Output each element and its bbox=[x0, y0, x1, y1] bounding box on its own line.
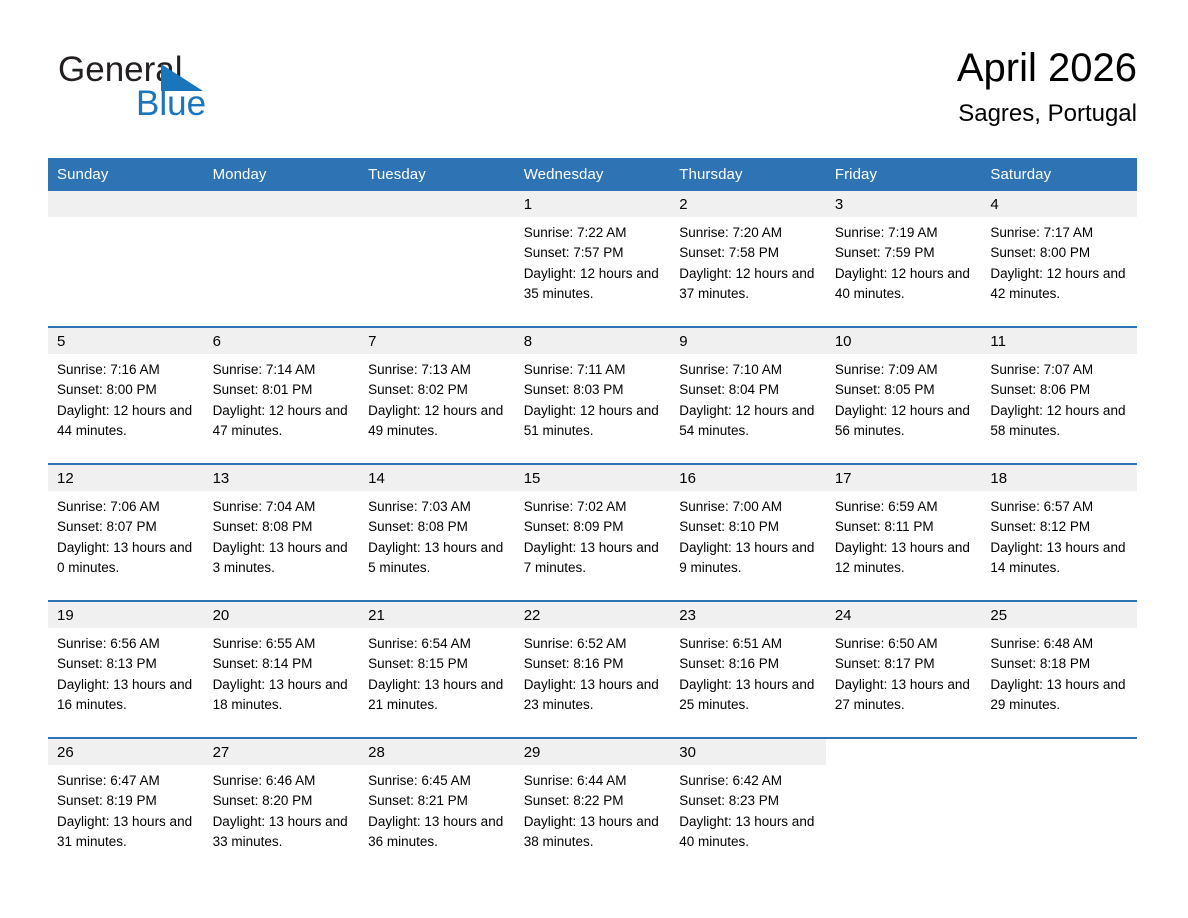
calendar-day-cell[interactable]: 15Sunrise: 7:02 AMSunset: 8:09 PMDayligh… bbox=[515, 464, 671, 601]
sunrise-text: Sunrise: 6:54 AM bbox=[368, 634, 507, 654]
day-details: Sunrise: 7:13 AMSunset: 8:02 PMDaylight:… bbox=[359, 354, 515, 441]
day-details: Sunrise: 7:16 AMSunset: 8:00 PMDaylight:… bbox=[48, 354, 204, 441]
day-number: 25 bbox=[981, 602, 1137, 628]
day-details: Sunrise: 7:07 AMSunset: 8:06 PMDaylight:… bbox=[981, 354, 1137, 441]
day-details: Sunrise: 7:17 AMSunset: 8:00 PMDaylight:… bbox=[981, 217, 1137, 304]
daylight-text: Daylight: 12 hours and 40 minutes. bbox=[835, 264, 974, 305]
day-cell-inner: 15Sunrise: 7:02 AMSunset: 8:09 PMDayligh… bbox=[515, 465, 671, 600]
sunset-text: Sunset: 7:58 PM bbox=[679, 243, 818, 263]
day-details: Sunrise: 7:04 AMSunset: 8:08 PMDaylight:… bbox=[204, 491, 360, 578]
sunrise-text: Sunrise: 6:44 AM bbox=[524, 771, 663, 791]
sunrise-text: Sunrise: 6:47 AM bbox=[57, 771, 196, 791]
calendar-day-cell[interactable]: 17Sunrise: 6:59 AMSunset: 8:11 PMDayligh… bbox=[826, 464, 982, 601]
day-details: Sunrise: 7:11 AMSunset: 8:03 PMDaylight:… bbox=[515, 354, 671, 441]
day-cell-inner: 17Sunrise: 6:59 AMSunset: 8:11 PMDayligh… bbox=[826, 465, 982, 600]
day-number: 8 bbox=[515, 328, 671, 354]
day-number: 22 bbox=[515, 602, 671, 628]
calendar-day-cell[interactable]: 1Sunrise: 7:22 AMSunset: 7:57 PMDaylight… bbox=[515, 191, 671, 327]
sunset-text: Sunset: 8:16 PM bbox=[524, 654, 663, 674]
day-number: 15 bbox=[515, 465, 671, 491]
sunrise-text: Sunrise: 7:19 AM bbox=[835, 223, 974, 243]
day-details: Sunrise: 6:54 AMSunset: 8:15 PMDaylight:… bbox=[359, 628, 515, 715]
daylight-text: Daylight: 13 hours and 23 minutes. bbox=[524, 675, 663, 716]
page-subtitle: Sagres, Portugal bbox=[957, 98, 1137, 130]
daylight-text: Daylight: 13 hours and 38 minutes. bbox=[524, 812, 663, 853]
calendar-table: SundayMondayTuesdayWednesdayThursdayFrid… bbox=[48, 158, 1137, 874]
day-details: Sunrise: 7:03 AMSunset: 8:08 PMDaylight:… bbox=[359, 491, 515, 578]
daylight-text: Daylight: 13 hours and 16 minutes. bbox=[57, 675, 196, 716]
weekday-header-monday: Monday bbox=[204, 158, 360, 191]
day-number: 3 bbox=[826, 191, 982, 217]
sunset-text: Sunset: 8:09 PM bbox=[524, 517, 663, 537]
day-details: Sunrise: 7:09 AMSunset: 8:05 PMDaylight:… bbox=[826, 354, 982, 441]
sunset-text: Sunset: 7:59 PM bbox=[835, 243, 974, 263]
day-number: 26 bbox=[48, 739, 204, 765]
calendar-week-row: 12Sunrise: 7:06 AMSunset: 8:07 PMDayligh… bbox=[48, 464, 1137, 601]
day-cell-inner bbox=[48, 191, 204, 326]
day-details: Sunrise: 6:50 AMSunset: 8:17 PMDaylight:… bbox=[826, 628, 982, 715]
weekday-header-thursday: Thursday bbox=[670, 158, 826, 191]
calendar-day-cell[interactable]: 12Sunrise: 7:06 AMSunset: 8:07 PMDayligh… bbox=[48, 464, 204, 601]
day-cell-inner bbox=[204, 191, 360, 326]
sunrise-text: Sunrise: 7:02 AM bbox=[524, 497, 663, 517]
sunset-text: Sunset: 8:05 PM bbox=[835, 380, 974, 400]
sunset-text: Sunset: 8:10 PM bbox=[679, 517, 818, 537]
day-cell-inner: 8Sunrise: 7:11 AMSunset: 8:03 PMDaylight… bbox=[515, 328, 671, 463]
day-details: Sunrise: 6:42 AMSunset: 8:23 PMDaylight:… bbox=[670, 765, 826, 852]
daylight-text: Daylight: 12 hours and 42 minutes. bbox=[990, 264, 1129, 305]
day-number: 9 bbox=[670, 328, 826, 354]
day-number: 19 bbox=[48, 602, 204, 628]
day-cell-inner: 20Sunrise: 6:55 AMSunset: 8:14 PMDayligh… bbox=[204, 602, 360, 737]
day-details: Sunrise: 7:10 AMSunset: 8:04 PMDaylight:… bbox=[670, 354, 826, 441]
day-cell-inner: 6Sunrise: 7:14 AMSunset: 8:01 PMDaylight… bbox=[204, 328, 360, 463]
calendar-day-cell[interactable]: 9Sunrise: 7:10 AMSunset: 8:04 PMDaylight… bbox=[670, 327, 826, 464]
sunrise-text: Sunrise: 6:59 AM bbox=[835, 497, 974, 517]
weekday-header-friday: Friday bbox=[826, 158, 982, 191]
sunset-text: Sunset: 8:08 PM bbox=[368, 517, 507, 537]
day-number: 12 bbox=[48, 465, 204, 491]
day-number: 18 bbox=[981, 465, 1137, 491]
calendar-day-cell[interactable]: 5Sunrise: 7:16 AMSunset: 8:00 PMDaylight… bbox=[48, 327, 204, 464]
day-details: Sunrise: 7:02 AMSunset: 8:09 PMDaylight:… bbox=[515, 491, 671, 578]
daylight-text: Daylight: 13 hours and 27 minutes. bbox=[835, 675, 974, 716]
sunrise-text: Sunrise: 6:50 AM bbox=[835, 634, 974, 654]
sunrise-text: Sunrise: 6:52 AM bbox=[524, 634, 663, 654]
day-cell-inner: 27Sunrise: 6:46 AMSunset: 8:20 PMDayligh… bbox=[204, 739, 360, 874]
weekday-header-saturday: Saturday bbox=[981, 158, 1137, 191]
daylight-text: Daylight: 13 hours and 40 minutes. bbox=[679, 812, 818, 853]
day-cell-inner: 25Sunrise: 6:48 AMSunset: 8:18 PMDayligh… bbox=[981, 602, 1137, 737]
day-number: 1 bbox=[515, 191, 671, 217]
calendar-cell-empty bbox=[826, 738, 982, 874]
calendar-cell-empty bbox=[204, 191, 360, 327]
sunrise-text: Sunrise: 7:00 AM bbox=[679, 497, 818, 517]
day-details: Sunrise: 6:47 AMSunset: 8:19 PMDaylight:… bbox=[48, 765, 204, 852]
sunrise-text: Sunrise: 7:17 AM bbox=[990, 223, 1129, 243]
day-cell-inner: 23Sunrise: 6:51 AMSunset: 8:16 PMDayligh… bbox=[670, 602, 826, 737]
day-number: 14 bbox=[359, 465, 515, 491]
calendar-day-cell[interactable]: 28Sunrise: 6:45 AMSunset: 8:21 PMDayligh… bbox=[359, 738, 515, 874]
sunset-text: Sunset: 8:08 PM bbox=[213, 517, 352, 537]
calendar-day-cell[interactable]: 24Sunrise: 6:50 AMSunset: 8:17 PMDayligh… bbox=[826, 601, 982, 738]
calendar-day-cell[interactable]: 2Sunrise: 7:20 AMSunset: 7:58 PMDaylight… bbox=[670, 191, 826, 327]
daylight-text: Daylight: 13 hours and 7 minutes. bbox=[524, 538, 663, 579]
sunset-text: Sunset: 8:01 PM bbox=[213, 380, 352, 400]
calendar-day-cell[interactable]: 30Sunrise: 6:42 AMSunset: 8:23 PMDayligh… bbox=[670, 738, 826, 874]
sunrise-text: Sunrise: 7:11 AM bbox=[524, 360, 663, 380]
sunrise-text: Sunrise: 6:48 AM bbox=[990, 634, 1129, 654]
daylight-text: Daylight: 13 hours and 5 minutes. bbox=[368, 538, 507, 579]
day-details: Sunrise: 6:57 AMSunset: 8:12 PMDaylight:… bbox=[981, 491, 1137, 578]
calendar-page: General Blue April 2026 Sagres, Portugal… bbox=[0, 0, 1188, 918]
sunrise-text: Sunrise: 6:55 AM bbox=[213, 634, 352, 654]
sunrise-text: Sunrise: 7:14 AM bbox=[213, 360, 352, 380]
calendar-day-cell[interactable]: 10Sunrise: 7:09 AMSunset: 8:05 PMDayligh… bbox=[826, 327, 982, 464]
sunset-text: Sunset: 8:00 PM bbox=[57, 380, 196, 400]
day-cell-inner: 5Sunrise: 7:16 AMSunset: 8:00 PMDaylight… bbox=[48, 328, 204, 463]
day-cell-inner: 2Sunrise: 7:20 AMSunset: 7:58 PMDaylight… bbox=[670, 191, 826, 326]
sunrise-text: Sunrise: 6:45 AM bbox=[368, 771, 507, 791]
daylight-text: Daylight: 13 hours and 12 minutes. bbox=[835, 538, 974, 579]
calendar-day-cell[interactable]: 8Sunrise: 7:11 AMSunset: 8:03 PMDaylight… bbox=[515, 327, 671, 464]
day-cell-inner: 10Sunrise: 7:09 AMSunset: 8:05 PMDayligh… bbox=[826, 328, 982, 463]
page-header: General Blue April 2026 Sagres, Portugal bbox=[48, 42, 1137, 152]
general-blue-logo: General Blue bbox=[58, 50, 318, 130]
day-cell-inner: 7Sunrise: 7:13 AMSunset: 8:02 PMDaylight… bbox=[359, 328, 515, 463]
sunset-text: Sunset: 8:04 PM bbox=[679, 380, 818, 400]
sunset-text: Sunset: 8:00 PM bbox=[990, 243, 1129, 263]
day-cell-inner bbox=[826, 739, 982, 874]
daylight-text: Daylight: 13 hours and 9 minutes. bbox=[679, 538, 818, 579]
day-number: 4 bbox=[981, 191, 1137, 217]
sunset-text: Sunset: 8:15 PM bbox=[368, 654, 507, 674]
daylight-text: Daylight: 12 hours and 35 minutes. bbox=[524, 264, 663, 305]
day-cell-inner: 14Sunrise: 7:03 AMSunset: 8:08 PMDayligh… bbox=[359, 465, 515, 600]
day-cell-inner: 18Sunrise: 6:57 AMSunset: 8:12 PMDayligh… bbox=[981, 465, 1137, 600]
calendar-day-cell[interactable]: 21Sunrise: 6:54 AMSunset: 8:15 PMDayligh… bbox=[359, 601, 515, 738]
day-number: 30 bbox=[670, 739, 826, 765]
sunrise-text: Sunrise: 7:20 AM bbox=[679, 223, 818, 243]
day-details: Sunrise: 6:44 AMSunset: 8:22 PMDaylight:… bbox=[515, 765, 671, 852]
calendar-day-cell[interactable]: 11Sunrise: 7:07 AMSunset: 8:06 PMDayligh… bbox=[981, 327, 1137, 464]
day-cell-inner: 12Sunrise: 7:06 AMSunset: 8:07 PMDayligh… bbox=[48, 465, 204, 600]
weekday-header-sunday: Sunday bbox=[48, 158, 204, 191]
day-cell-inner: 4Sunrise: 7:17 AMSunset: 8:00 PMDaylight… bbox=[981, 191, 1137, 326]
day-details: Sunrise: 7:20 AMSunset: 7:58 PMDaylight:… bbox=[670, 217, 826, 304]
calendar-day-cell[interactable]: 27Sunrise: 6:46 AMSunset: 8:20 PMDayligh… bbox=[204, 738, 360, 874]
calendar-day-cell[interactable]: 14Sunrise: 7:03 AMSunset: 8:08 PMDayligh… bbox=[359, 464, 515, 601]
sunrise-text: Sunrise: 7:10 AM bbox=[679, 360, 818, 380]
day-cell-inner: 28Sunrise: 6:45 AMSunset: 8:21 PMDayligh… bbox=[359, 739, 515, 874]
calendar-day-cell[interactable]: 22Sunrise: 6:52 AMSunset: 8:16 PMDayligh… bbox=[515, 601, 671, 738]
calendar-day-cell[interactable]: 23Sunrise: 6:51 AMSunset: 8:16 PMDayligh… bbox=[670, 601, 826, 738]
daylight-text: Daylight: 12 hours and 44 minutes. bbox=[57, 401, 196, 442]
sunrise-text: Sunrise: 7:07 AM bbox=[990, 360, 1129, 380]
sunset-text: Sunset: 8:14 PM bbox=[213, 654, 352, 674]
sunset-text: Sunset: 7:57 PM bbox=[524, 243, 663, 263]
sunset-text: Sunset: 8:06 PM bbox=[990, 380, 1129, 400]
title-block: April 2026 Sagres, Portugal bbox=[957, 42, 1137, 130]
calendar-day-cell[interactable]: 18Sunrise: 6:57 AMSunset: 8:12 PMDayligh… bbox=[981, 464, 1137, 601]
day-details: Sunrise: 7:22 AMSunset: 7:57 PMDaylight:… bbox=[515, 217, 671, 304]
calendar-body: 1Sunrise: 7:22 AMSunset: 7:57 PMDaylight… bbox=[48, 191, 1137, 874]
day-details: Sunrise: 6:56 AMSunset: 8:13 PMDaylight:… bbox=[48, 628, 204, 715]
day-number: 23 bbox=[670, 602, 826, 628]
day-cell-inner bbox=[359, 191, 515, 326]
day-details: Sunrise: 7:06 AMSunset: 8:07 PMDaylight:… bbox=[48, 491, 204, 578]
day-number: 24 bbox=[826, 602, 982, 628]
sunset-text: Sunset: 8:21 PM bbox=[368, 791, 507, 811]
day-number: 29 bbox=[515, 739, 671, 765]
sunset-text: Sunset: 8:12 PM bbox=[990, 517, 1129, 537]
calendar-cell-empty bbox=[48, 191, 204, 327]
calendar-day-cell[interactable]: 7Sunrise: 7:13 AMSunset: 8:02 PMDaylight… bbox=[359, 327, 515, 464]
day-number: 28 bbox=[359, 739, 515, 765]
day-number: 27 bbox=[204, 739, 360, 765]
daylight-text: Daylight: 13 hours and 31 minutes. bbox=[57, 812, 196, 853]
day-number bbox=[48, 191, 204, 217]
daylight-text: Daylight: 12 hours and 56 minutes. bbox=[835, 401, 974, 442]
sunrise-text: Sunrise: 6:57 AM bbox=[990, 497, 1129, 517]
day-cell-inner: 26Sunrise: 6:47 AMSunset: 8:19 PMDayligh… bbox=[48, 739, 204, 874]
calendar-week-row: 5Sunrise: 7:16 AMSunset: 8:00 PMDaylight… bbox=[48, 327, 1137, 464]
calendar-day-cell[interactable]: 25Sunrise: 6:48 AMSunset: 8:18 PMDayligh… bbox=[981, 601, 1137, 738]
daylight-text: Daylight: 12 hours and 54 minutes. bbox=[679, 401, 818, 442]
sunset-text: Sunset: 8:11 PM bbox=[835, 517, 974, 537]
day-number: 5 bbox=[48, 328, 204, 354]
sunset-text: Sunset: 8:18 PM bbox=[990, 654, 1129, 674]
logo-blue-text: Blue bbox=[136, 84, 206, 124]
calendar-cell-empty bbox=[981, 738, 1137, 874]
day-cell-inner: 11Sunrise: 7:07 AMSunset: 8:06 PMDayligh… bbox=[981, 328, 1137, 463]
daylight-text: Daylight: 13 hours and 0 minutes. bbox=[57, 538, 196, 579]
calendar-day-cell[interactable]: 3Sunrise: 7:19 AMSunset: 7:59 PMDaylight… bbox=[826, 191, 982, 327]
sunrise-text: Sunrise: 7:09 AM bbox=[835, 360, 974, 380]
day-number: 11 bbox=[981, 328, 1137, 354]
daylight-text: Daylight: 12 hours and 47 minutes. bbox=[213, 401, 352, 442]
sunrise-text: Sunrise: 7:22 AM bbox=[524, 223, 663, 243]
sunrise-text: Sunrise: 6:42 AM bbox=[679, 771, 818, 791]
sunrise-text: Sunrise: 7:03 AM bbox=[368, 497, 507, 517]
day-details: Sunrise: 6:45 AMSunset: 8:21 PMDaylight:… bbox=[359, 765, 515, 852]
sunset-text: Sunset: 8:17 PM bbox=[835, 654, 974, 674]
sunset-text: Sunset: 8:03 PM bbox=[524, 380, 663, 400]
sunset-text: Sunset: 8:19 PM bbox=[57, 791, 196, 811]
daylight-text: Daylight: 13 hours and 3 minutes. bbox=[213, 538, 352, 579]
weekday-header-tuesday: Tuesday bbox=[359, 158, 515, 191]
day-cell-inner: 21Sunrise: 6:54 AMSunset: 8:15 PMDayligh… bbox=[359, 602, 515, 737]
daylight-text: Daylight: 13 hours and 33 minutes. bbox=[213, 812, 352, 853]
daylight-text: Daylight: 13 hours and 14 minutes. bbox=[990, 538, 1129, 579]
daylight-text: Daylight: 12 hours and 58 minutes. bbox=[990, 401, 1129, 442]
page-title: April 2026 bbox=[957, 42, 1137, 94]
sunset-text: Sunset: 8:13 PM bbox=[57, 654, 196, 674]
day-cell-inner: 29Sunrise: 6:44 AMSunset: 8:22 PMDayligh… bbox=[515, 739, 671, 874]
day-number bbox=[981, 739, 1137, 765]
day-details: Sunrise: 6:51 AMSunset: 8:16 PMDaylight:… bbox=[670, 628, 826, 715]
sunrise-text: Sunrise: 6:46 AM bbox=[213, 771, 352, 791]
daylight-text: Daylight: 13 hours and 25 minutes. bbox=[679, 675, 818, 716]
day-details: Sunrise: 7:19 AMSunset: 7:59 PMDaylight:… bbox=[826, 217, 982, 304]
day-number: 7 bbox=[359, 328, 515, 354]
sunrise-text: Sunrise: 7:06 AM bbox=[57, 497, 196, 517]
day-cell-inner: 30Sunrise: 6:42 AMSunset: 8:23 PMDayligh… bbox=[670, 739, 826, 874]
day-cell-inner: 3Sunrise: 7:19 AMSunset: 7:59 PMDaylight… bbox=[826, 191, 982, 326]
calendar-day-cell[interactable]: 29Sunrise: 6:44 AMSunset: 8:22 PMDayligh… bbox=[515, 738, 671, 874]
weekday-header-wednesday: Wednesday bbox=[515, 158, 671, 191]
sunrise-text: Sunrise: 6:56 AM bbox=[57, 634, 196, 654]
calendar-day-cell[interactable]: 16Sunrise: 7:00 AMSunset: 8:10 PMDayligh… bbox=[670, 464, 826, 601]
day-details: Sunrise: 6:55 AMSunset: 8:14 PMDaylight:… bbox=[204, 628, 360, 715]
day-cell-inner: 16Sunrise: 7:00 AMSunset: 8:10 PMDayligh… bbox=[670, 465, 826, 600]
day-number: 10 bbox=[826, 328, 982, 354]
calendar-day-cell[interactable]: 20Sunrise: 6:55 AMSunset: 8:14 PMDayligh… bbox=[204, 601, 360, 738]
sunset-text: Sunset: 8:16 PM bbox=[679, 654, 818, 674]
calendar-day-cell[interactable]: 19Sunrise: 6:56 AMSunset: 8:13 PMDayligh… bbox=[48, 601, 204, 738]
calendar-week-row: 26Sunrise: 6:47 AMSunset: 8:19 PMDayligh… bbox=[48, 738, 1137, 874]
calendar-day-cell[interactable]: 6Sunrise: 7:14 AMSunset: 8:01 PMDaylight… bbox=[204, 327, 360, 464]
day-cell-inner: 13Sunrise: 7:04 AMSunset: 8:08 PMDayligh… bbox=[204, 465, 360, 600]
daylight-text: Daylight: 12 hours and 37 minutes. bbox=[679, 264, 818, 305]
day-number: 2 bbox=[670, 191, 826, 217]
day-number: 20 bbox=[204, 602, 360, 628]
day-cell-inner: 1Sunrise: 7:22 AMSunset: 7:57 PMDaylight… bbox=[515, 191, 671, 326]
day-cell-inner: 24Sunrise: 6:50 AMSunset: 8:17 PMDayligh… bbox=[826, 602, 982, 737]
day-number: 16 bbox=[670, 465, 826, 491]
day-cell-inner: 19Sunrise: 6:56 AMSunset: 8:13 PMDayligh… bbox=[48, 602, 204, 737]
sunrise-text: Sunrise: 7:13 AM bbox=[368, 360, 507, 380]
daylight-text: Daylight: 13 hours and 29 minutes. bbox=[990, 675, 1129, 716]
daylight-text: Daylight: 13 hours and 18 minutes. bbox=[213, 675, 352, 716]
day-details: Sunrise: 7:00 AMSunset: 8:10 PMDaylight:… bbox=[670, 491, 826, 578]
sunset-text: Sunset: 8:22 PM bbox=[524, 791, 663, 811]
calendar-week-row: 19Sunrise: 6:56 AMSunset: 8:13 PMDayligh… bbox=[48, 601, 1137, 738]
sunrise-text: Sunrise: 7:04 AM bbox=[213, 497, 352, 517]
day-number: 17 bbox=[826, 465, 982, 491]
calendar-cell-empty bbox=[359, 191, 515, 327]
calendar-day-cell[interactable]: 13Sunrise: 7:04 AMSunset: 8:08 PMDayligh… bbox=[204, 464, 360, 601]
daylight-text: Daylight: 12 hours and 49 minutes. bbox=[368, 401, 507, 442]
sunset-text: Sunset: 8:20 PM bbox=[213, 791, 352, 811]
daylight-text: Daylight: 13 hours and 21 minutes. bbox=[368, 675, 507, 716]
day-number bbox=[204, 191, 360, 217]
sunrise-text: Sunrise: 6:51 AM bbox=[679, 634, 818, 654]
daylight-text: Daylight: 13 hours and 36 minutes. bbox=[368, 812, 507, 853]
day-details: Sunrise: 7:14 AMSunset: 8:01 PMDaylight:… bbox=[204, 354, 360, 441]
day-details: Sunrise: 6:48 AMSunset: 8:18 PMDaylight:… bbox=[981, 628, 1137, 715]
sunset-text: Sunset: 8:07 PM bbox=[57, 517, 196, 537]
day-cell-inner bbox=[981, 739, 1137, 874]
calendar-day-cell[interactable]: 4Sunrise: 7:17 AMSunset: 8:00 PMDaylight… bbox=[981, 191, 1137, 327]
day-details: Sunrise: 6:46 AMSunset: 8:20 PMDaylight:… bbox=[204, 765, 360, 852]
day-number: 21 bbox=[359, 602, 515, 628]
day-details: Sunrise: 6:59 AMSunset: 8:11 PMDaylight:… bbox=[826, 491, 982, 578]
day-number bbox=[826, 739, 982, 765]
sunrise-text: Sunrise: 7:16 AM bbox=[57, 360, 196, 380]
sunset-text: Sunset: 8:23 PM bbox=[679, 791, 818, 811]
daylight-text: Daylight: 12 hours and 51 minutes. bbox=[524, 401, 663, 442]
day-cell-inner: 9Sunrise: 7:10 AMSunset: 8:04 PMDaylight… bbox=[670, 328, 826, 463]
day-details: Sunrise: 6:52 AMSunset: 8:16 PMDaylight:… bbox=[515, 628, 671, 715]
sunset-text: Sunset: 8:02 PM bbox=[368, 380, 507, 400]
day-number bbox=[359, 191, 515, 217]
calendar-header-row: SundayMondayTuesdayWednesdayThursdayFrid… bbox=[48, 158, 1137, 191]
calendar-week-row: 1Sunrise: 7:22 AMSunset: 7:57 PMDaylight… bbox=[48, 191, 1137, 327]
day-cell-inner: 22Sunrise: 6:52 AMSunset: 8:16 PMDayligh… bbox=[515, 602, 671, 737]
calendar-day-cell[interactable]: 26Sunrise: 6:47 AMSunset: 8:19 PMDayligh… bbox=[48, 738, 204, 874]
day-number: 6 bbox=[204, 328, 360, 354]
day-number: 13 bbox=[204, 465, 360, 491]
